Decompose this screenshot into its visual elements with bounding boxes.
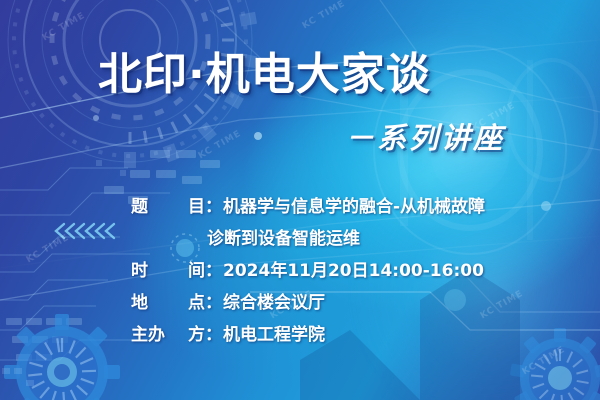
detail-row-organizer: 主办 方 ： 机电工程学院 — [131, 320, 571, 350]
detail-row-topic-continued: 诊断到设备智能运维 — [131, 224, 571, 254]
detail-value-time: 2024年11月20日14:00-16:00 — [223, 256, 571, 281]
detail-label-topic-char-1: 题 — [131, 192, 148, 217]
detail-label-topic-char-2: 目 — [188, 192, 205, 217]
detail-colon-topic: ： — [205, 192, 222, 217]
detail-label-time-char-1: 时 — [131, 256, 148, 281]
detail-colon-location: ： — [205, 288, 222, 313]
detail-value-topic-line2: 诊断到设备智能运维 — [131, 224, 571, 249]
gear-icon-lower-left — [4, 314, 120, 400]
detail-value-topic: 机器学与信息学的融合-从机械故障 — [223, 192, 571, 217]
detail-label-organizer-char-2: 方 — [188, 320, 205, 345]
chevron-arrows — [56, 224, 114, 238]
detail-row-location: 地 点 ： 综合楼会议厅 — [131, 288, 571, 318]
detail-label-organizer-char-1: 主办 — [131, 320, 165, 345]
page-title: 北印·机电大家谈 — [98, 38, 431, 102]
detail-row-topic: 题 目 ： 机器学与信息学的融合-从机械故障 — [131, 192, 571, 222]
detail-label-time-char-2: 间 — [188, 256, 205, 281]
detail-colon-time: ： — [205, 256, 222, 281]
detail-label-location: 地 点 — [131, 288, 205, 313]
detail-label-location-char-1: 地 — [131, 288, 148, 313]
detail-label-time: 时 间 — [131, 256, 205, 281]
detail-colon-organizer: ： — [205, 320, 222, 345]
poster-banner: KC TIME KC TIME KC TIME KC TIME KC TIME … — [0, 0, 600, 400]
detail-value-organizer: 机电工程学院 — [223, 320, 571, 345]
detail-value-location: 综合楼会议厅 — [223, 288, 571, 313]
detail-row-time: 时 间 ： 2024年11月20日14:00-16:00 — [131, 256, 571, 286]
detail-label-location-char-2: 点 — [188, 288, 205, 313]
detail-label-organizer: 主办 方 — [131, 320, 205, 345]
page-subtitle: －系列讲座 — [345, 115, 505, 157]
event-details-list: 题 目 ： 机器学与信息学的融合-从机械故障 诊断到设备智能运维 时 间 ： 2… — [131, 192, 571, 352]
detail-label-topic: 题 目 — [131, 192, 205, 217]
